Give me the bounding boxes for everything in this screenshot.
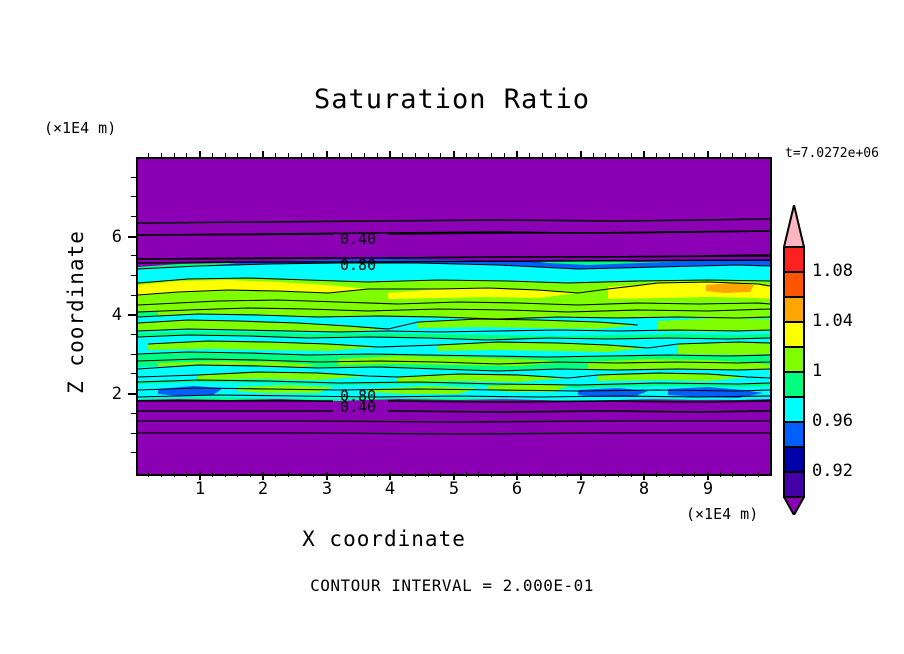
colorbar-svg bbox=[783, 205, 805, 515]
x-tick-minor-top bbox=[656, 153, 657, 158]
x-tick-minor bbox=[669, 472, 670, 477]
x-tick-minor-top bbox=[377, 153, 378, 158]
x-tick-minor-top bbox=[402, 153, 403, 158]
x-tick-minor-top bbox=[694, 153, 695, 158]
x-tick-minor-top bbox=[174, 153, 175, 158]
x-tick-minor bbox=[745, 472, 746, 477]
x-tick-minor bbox=[618, 472, 619, 477]
x-tick-minor-top bbox=[186, 153, 187, 158]
x-tick-minor-top bbox=[466, 153, 467, 158]
x-tick-minor bbox=[250, 472, 251, 477]
x-tick-minor bbox=[313, 472, 314, 477]
x-axis-title: X coordinate bbox=[0, 527, 768, 551]
x-tick-minor-top bbox=[225, 153, 226, 158]
x-tick-minor-top bbox=[415, 153, 416, 158]
x-tick-minor bbox=[504, 472, 505, 477]
x-tick-minor-top bbox=[542, 153, 543, 158]
colorbar[interactable] bbox=[783, 205, 805, 515]
y-tick-minor bbox=[131, 373, 136, 374]
x-tick-minor bbox=[440, 472, 441, 477]
x-tick-minor bbox=[428, 472, 429, 477]
x-tick-minor-top bbox=[250, 153, 251, 158]
x-tick-minor bbox=[542, 472, 543, 477]
time-annotation: t=7.0272e+06 bbox=[785, 146, 879, 161]
x-tick-minor bbox=[732, 472, 733, 477]
x-tick-major-top bbox=[262, 151, 264, 159]
x-tick-minor bbox=[351, 472, 352, 477]
contour-plot-area bbox=[136, 157, 772, 476]
x-tick-minor-top bbox=[631, 153, 632, 158]
contour-interval-caption: CONTOUR INTERVAL = 2.000E-01 bbox=[0, 576, 904, 595]
y-tick-minor bbox=[131, 334, 136, 335]
x-tick-minor-top bbox=[288, 153, 289, 158]
x-tick-minor bbox=[212, 472, 213, 477]
x-ticklabel: 1 bbox=[185, 479, 215, 499]
x-tick-minor bbox=[225, 472, 226, 477]
y-tick-minor bbox=[131, 295, 136, 296]
x-tick-minor-top bbox=[428, 153, 429, 158]
x-tick-minor bbox=[758, 472, 759, 477]
y-tick-minor bbox=[131, 275, 136, 276]
x-tick-major-top bbox=[199, 151, 201, 159]
x-tick-minor-top bbox=[161, 153, 162, 158]
x-tick-major-top bbox=[707, 151, 709, 159]
x-tick-minor-top bbox=[491, 153, 492, 158]
x-tick-minor bbox=[148, 472, 149, 477]
x-ticklabel: 6 bbox=[502, 479, 532, 499]
y-tick-minor bbox=[131, 413, 136, 414]
x-tick-minor-top bbox=[593, 153, 594, 158]
x-ticklabel: 8 bbox=[629, 479, 659, 499]
x-tick-minor bbox=[174, 472, 175, 477]
x-tick-minor-top bbox=[720, 153, 721, 158]
x-tick-minor bbox=[720, 472, 721, 477]
x-tick-minor bbox=[339, 472, 340, 477]
contour-field bbox=[138, 159, 770, 474]
x-tick-minor bbox=[288, 472, 289, 477]
x-ticklabel: 3 bbox=[312, 479, 342, 499]
x-tick-minor-top bbox=[669, 153, 670, 158]
colorbar-label: 1.08 bbox=[812, 261, 853, 281]
y-tick-major bbox=[128, 314, 136, 316]
x-ticklabel: 7 bbox=[566, 479, 596, 499]
y-ticklabel: 4 bbox=[92, 305, 122, 325]
x-tick-minor-top bbox=[364, 153, 365, 158]
x-tick-major-top bbox=[326, 151, 328, 159]
y-axis-title: Z coordinate bbox=[64, 212, 88, 412]
x-tick-minor-top bbox=[758, 153, 759, 158]
x-tick-minor bbox=[631, 472, 632, 477]
contour-label: 0.40 bbox=[340, 398, 376, 416]
x-tick-minor bbox=[161, 472, 162, 477]
x-tick-minor bbox=[567, 472, 568, 477]
x-tick-major-top bbox=[389, 151, 391, 159]
x-tick-minor-top bbox=[339, 153, 340, 158]
x-tick-minor bbox=[593, 472, 594, 477]
colorbar-label: 1.04 bbox=[812, 311, 853, 331]
x-tick-major-top bbox=[580, 151, 582, 159]
y-tick-minor bbox=[131, 255, 136, 256]
x-tick-minor bbox=[186, 472, 187, 477]
x-tick-minor bbox=[402, 472, 403, 477]
x-ticklabel: 5 bbox=[439, 479, 469, 499]
x-tick-minor bbox=[478, 472, 479, 477]
y-tick-minor bbox=[131, 177, 136, 178]
x-tick-minor-top bbox=[567, 153, 568, 158]
page-title: Saturation Ratio bbox=[0, 84, 904, 115]
x-ticklabel: 4 bbox=[375, 479, 405, 499]
x-tick-minor-top bbox=[351, 153, 352, 158]
contour-label: 0.80 bbox=[340, 256, 376, 274]
y-tick-major bbox=[128, 393, 136, 395]
x-tick-minor-top bbox=[440, 153, 441, 158]
figure-canvas: Saturation Ratio (×1E4 m) t=7.0272e+06 bbox=[0, 0, 904, 654]
y-tick-minor bbox=[131, 354, 136, 355]
x-tick-minor bbox=[466, 472, 467, 477]
x-ticklabel: 2 bbox=[248, 479, 278, 499]
x-tick-minor-top bbox=[313, 153, 314, 158]
x-tick-minor-top bbox=[301, 153, 302, 158]
x-tick-minor bbox=[605, 472, 606, 477]
colorbar-label: 0.96 bbox=[812, 411, 853, 431]
x-tick-minor bbox=[491, 472, 492, 477]
colorbar-label: 1 bbox=[812, 361, 822, 381]
x-tick-minor bbox=[682, 472, 683, 477]
y-tick-minor bbox=[131, 433, 136, 434]
x-tick-minor-top bbox=[212, 153, 213, 158]
y-ticklabel: 2 bbox=[92, 384, 122, 404]
x-tick-minor-top bbox=[682, 153, 683, 158]
x-tick-minor-top bbox=[618, 153, 619, 158]
x-tick-minor bbox=[656, 472, 657, 477]
x-tick-minor bbox=[555, 472, 556, 477]
x-tick-minor-top bbox=[745, 153, 746, 158]
x-tick-major-top bbox=[453, 151, 455, 159]
x-tick-minor bbox=[415, 472, 416, 477]
x-axis-units-label: (×1E4 m) bbox=[686, 505, 758, 523]
contour-label: 0.40 bbox=[340, 230, 376, 248]
x-tick-minor bbox=[529, 472, 530, 477]
x-tick-minor-top bbox=[605, 153, 606, 158]
x-tick-minor-top bbox=[504, 153, 505, 158]
x-tick-minor bbox=[237, 472, 238, 477]
x-tick-minor-top bbox=[275, 153, 276, 158]
x-tick-minor-top bbox=[555, 153, 556, 158]
x-tick-minor-top bbox=[478, 153, 479, 158]
x-tick-minor bbox=[377, 472, 378, 477]
x-tick-major-top bbox=[516, 151, 518, 159]
x-tick-minor-top bbox=[237, 153, 238, 158]
y-tick-minor bbox=[131, 196, 136, 197]
contour-field-svg bbox=[138, 159, 770, 474]
x-tick-minor bbox=[364, 472, 365, 477]
x-ticklabel: 9 bbox=[693, 479, 723, 499]
x-tick-major-top bbox=[643, 151, 645, 159]
y-tick-minor bbox=[131, 216, 136, 217]
x-tick-minor bbox=[275, 472, 276, 477]
y-axis-units-label: (×1E4 m) bbox=[44, 119, 116, 137]
x-tick-minor bbox=[301, 472, 302, 477]
colorbar-labels: 1.08 1.04 1 0.96 0.92 bbox=[812, 205, 882, 515]
y-ticklabel: 6 bbox=[92, 227, 122, 247]
colorbar-label: 0.92 bbox=[812, 461, 853, 481]
y-tick-major bbox=[128, 236, 136, 238]
y-tick-minor bbox=[131, 452, 136, 453]
x-tick-minor-top bbox=[529, 153, 530, 158]
x-tick-minor-top bbox=[732, 153, 733, 158]
x-tick-minor bbox=[694, 472, 695, 477]
x-tick-minor-top bbox=[148, 153, 149, 158]
